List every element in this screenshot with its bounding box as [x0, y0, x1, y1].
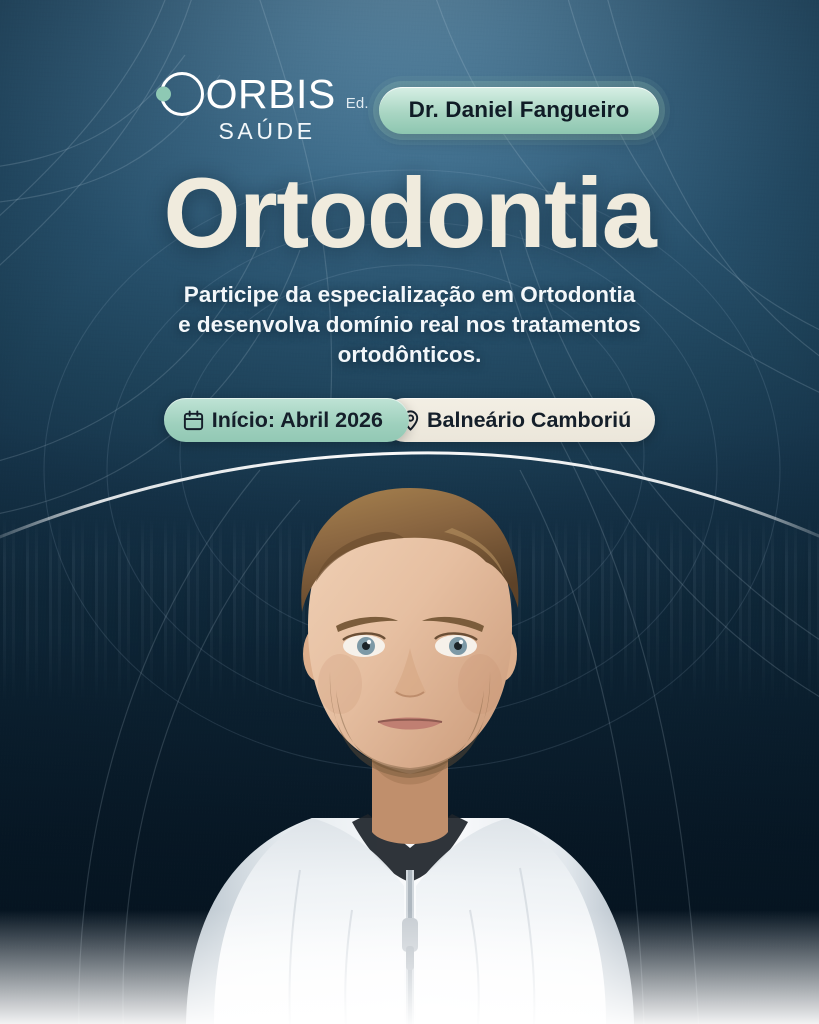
page-title: Ortodontia: [0, 163, 819, 264]
description-line-1: Participe da especialização em Ortodonti…: [0, 280, 819, 310]
orbis-dot-icon: [156, 87, 171, 102]
orbis-ring-icon: [160, 72, 204, 116]
poster-canvas: ORBIS Ed. SAÚDE Dr. Daniel Fangueiro Ort…: [0, 0, 819, 1024]
info-pill-group: Início: Abril 2026 Balneário Camboriú: [0, 398, 819, 442]
poster-header: ORBIS Ed. SAÚDE Dr. Daniel Fangueiro: [0, 72, 819, 148]
brand-subtitle: SAÚDE: [160, 118, 345, 145]
location-pill[interactable]: Balneário Camboriú: [383, 398, 655, 442]
start-date-pill[interactable]: Início: Abril 2026: [164, 398, 409, 442]
calendar-icon: [182, 409, 205, 432]
description-line-2: e desenvolva domínio real nos tratamento…: [0, 310, 819, 340]
start-date-label: Início: Abril 2026: [212, 408, 383, 433]
speaker-name-badge[interactable]: Dr. Daniel Fangueiro: [379, 87, 660, 134]
background-line-art: [0, 0, 819, 1024]
brand-logo-main: ORBIS Ed.: [160, 72, 345, 116]
description-line-3: ortodônticos.: [0, 340, 819, 370]
location-label: Balneário Camboriú: [427, 408, 631, 433]
background-crowd-band: [0, 516, 819, 706]
description-text: Participe da especialização em Ortodonti…: [0, 280, 819, 370]
brand-suffix: Ed.: [346, 95, 369, 112]
brand-logo[interactable]: ORBIS Ed. SAÚDE: [160, 72, 345, 148]
brand-name: ORBIS: [206, 74, 336, 115]
